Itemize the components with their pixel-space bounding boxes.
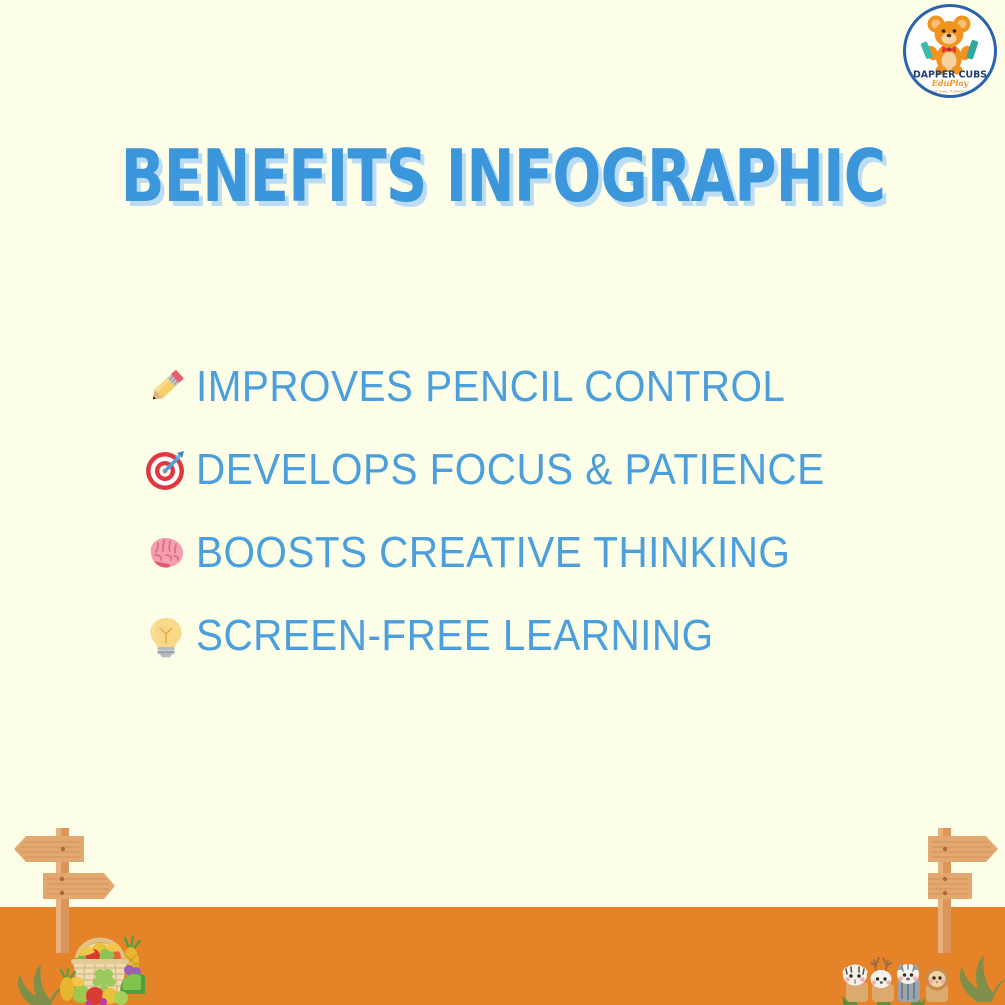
benefits-list: IMPROVES PENCIL CONTROL DEVELOPS FOCUS &… [136,345,936,677]
logo-tagline: Belajar Seru, Tumbuh Ceria [925,90,974,94]
benefit-label: BOOSTS CREATIVE THINKING [196,529,790,577]
logo-brand-line2: EduPlay [931,78,970,88]
page-title-container: BENEFITS INFOGRAPHIC [0,133,1005,219]
pencil-icon [136,359,196,415]
benefit-label: IMPROVES PENCIL CONTROL [196,363,785,411]
logo-artwork: DAPPER CUBS EduPlay Belajar Seru, Tumbuh… [906,7,994,95]
list-item: IMPROVES PENCIL CONTROL [136,345,936,428]
benefit-label: SCREEN-FREE LEARNING [196,612,714,660]
brand-logo[interactable]: DAPPER CUBS EduPlay Belajar Seru, Tumbuh… [903,4,997,98]
lightbulb-icon [136,608,196,664]
list-item: DEVELOPS FOCUS & PATIENCE [136,428,936,511]
dart-target-icon [136,442,196,498]
benefit-label: DEVELOPS FOCUS & PATIENCE [196,446,825,494]
page-title: BENEFITS INFOGRAPHIC [120,133,885,219]
list-item: SCREEN-FREE LEARNING [136,594,936,677]
list-item: BOOSTS CREATIVE THINKING [136,511,936,594]
brain-icon [136,525,196,581]
ground-band [0,907,1005,1005]
infographic-poster: DAPPER CUBS EduPlay Belajar Seru, Tumbuh… [0,0,1005,1005]
